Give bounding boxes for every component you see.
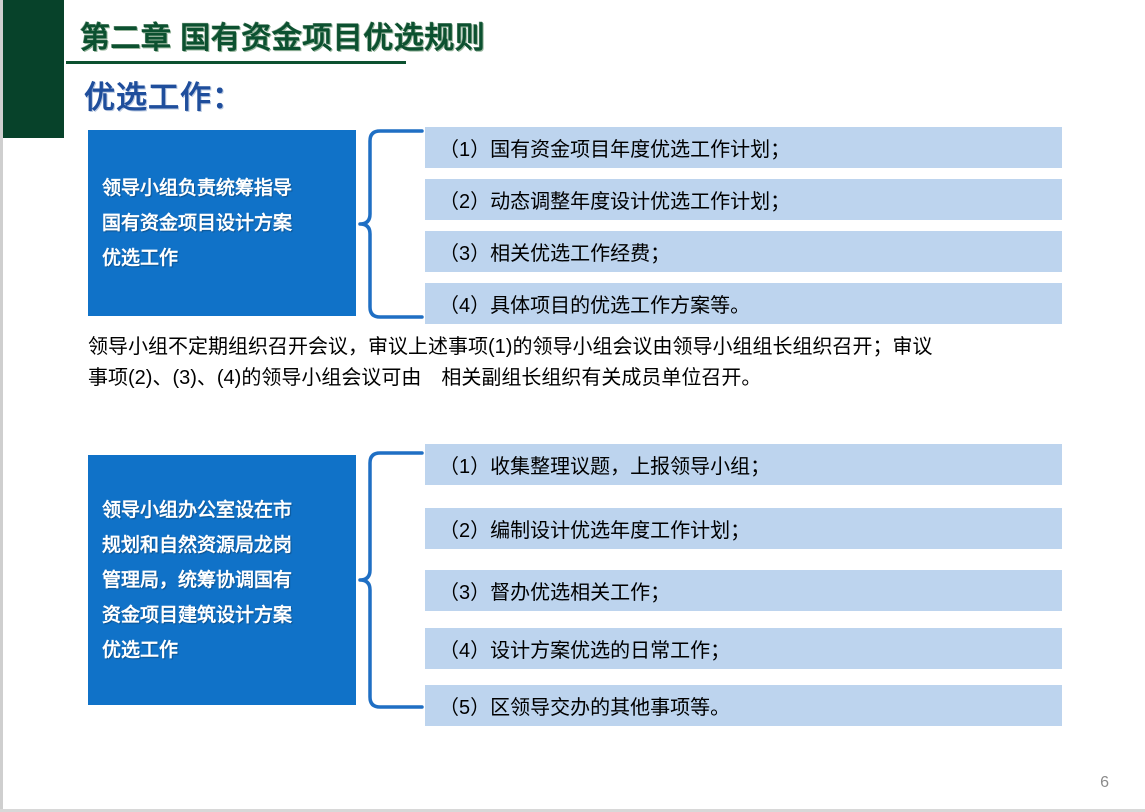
group2-blue-box: 领导小组办公室设在市 规划和自然资源局龙岗 管理局，统筹协调国有 资金项目建筑设… [88, 455, 356, 705]
group2-box-line-2: 规划和自然资源局龙岗 [102, 528, 342, 563]
group2-item-4: （4）设计方案优选的日常工作； [425, 628, 1062, 669]
group2-box-line-5: 优选工作 [102, 633, 342, 668]
group1-item-2: （2）动态调整年度设计优选工作计划； [425, 179, 1062, 220]
group1-blue-box: 领导小组负责统筹指导 国有资金项目设计方案 优选工作 [88, 130, 356, 316]
slide-canvas: 第二章 国有资金项目优选规则 优选工作： 领导小组负责统筹指导 国有资金项目设计… [0, 0, 1145, 812]
group1-box-line-1: 领导小组负责统筹指导 [102, 171, 342, 206]
group2-brace-icon [356, 448, 426, 712]
title-underline-rule [66, 61, 406, 64]
group2-item-3: （3）督办优选相关工作； [425, 570, 1062, 611]
group1-item-3: （3）相关优选工作经费； [425, 231, 1062, 272]
explanatory-paragraph: 领导小组不定期组织召开会议，审议上述事项(1)的领导小组会议由领导小组组长组织召… [88, 332, 988, 394]
section-heading: 优选工作： [84, 72, 244, 117]
group2-item-2: （2）编制设计优选年度工作计划； [425, 508, 1062, 549]
group2-box-line-3: 管理局，统筹协调国有 [102, 563, 342, 598]
paragraph-line-2: 事项(2)、(3)、(4)的领导小组会议可由 相关副组长组织有关成员单位召开。 [88, 363, 988, 394]
group2-item-5: （5）区领导交办的其他事项等。 [425, 685, 1062, 726]
group2-box-line-1: 领导小组办公室设在市 [102, 493, 342, 528]
page-number: 6 [1100, 774, 1109, 792]
green-accent-bar [3, 0, 64, 138]
group1-item-1: （1）国有资金项目年度优选工作计划； [425, 127, 1062, 168]
group1-box-line-2: 国有资金项目设计方案 [102, 206, 342, 241]
group2-box-line-4: 资金项目建筑设计方案 [102, 598, 342, 633]
group1-box-line-3: 优选工作 [102, 241, 342, 276]
group1-item-4: （4）具体项目的优选工作方案等。 [425, 283, 1062, 324]
chapter-title: 第二章 国有资金项目优选规则 [80, 13, 485, 57]
group2-item-1: （1）收集整理议题，上报领导小组； [425, 444, 1062, 485]
paragraph-line-1: 领导小组不定期组织召开会议，审议上述事项(1)的领导小组会议由领导小组组长组织召… [88, 332, 988, 363]
group1-brace-icon [356, 126, 426, 322]
